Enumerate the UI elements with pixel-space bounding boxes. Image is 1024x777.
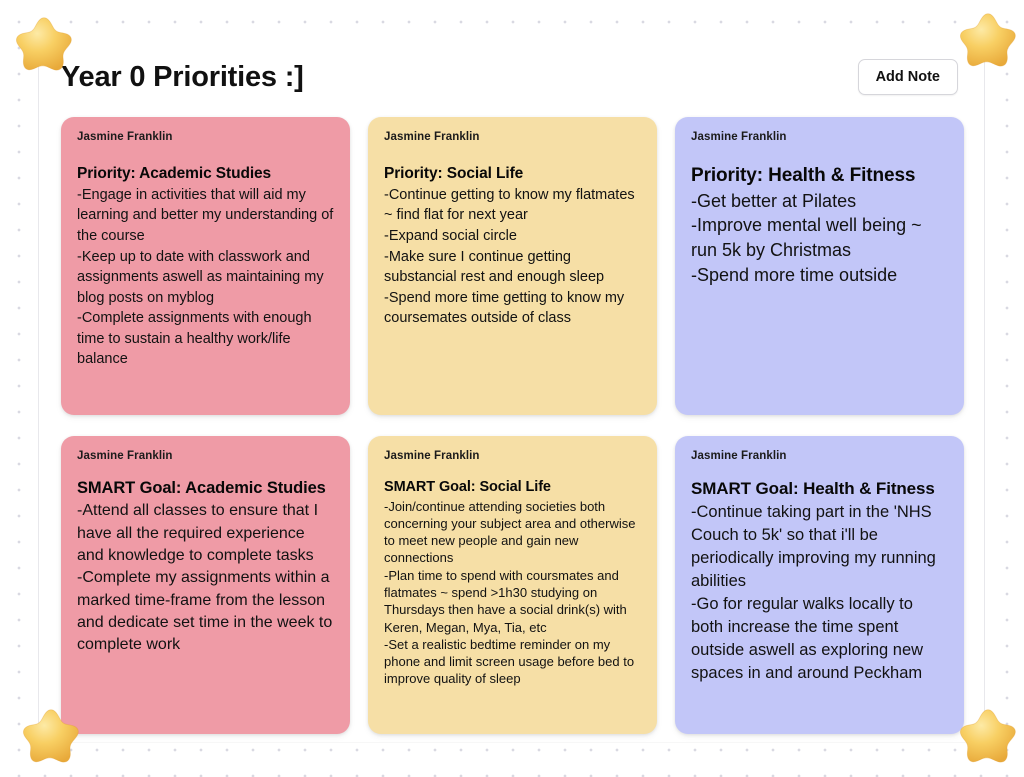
note-board: Year 0 Priorities :] Add Note Jasmine Fr… <box>38 36 985 742</box>
notes-grid: Jasmine FranklinPriority: Academic Studi… <box>61 117 964 734</box>
note-body: -Continue getting to know my flatmates ~… <box>384 185 641 329</box>
note-author: Jasmine Franklin <box>77 131 334 143</box>
note-heading: Priority: Academic Studies <box>77 164 334 184</box>
note-body: -Join/continue attending societies both … <box>384 498 641 688</box>
note-heading: SMART Goal: Health & Fitness <box>691 478 948 500</box>
note-author: Jasmine Franklin <box>77 450 334 462</box>
note-body: -Attend all classes to ensure that I hav… <box>77 500 334 657</box>
note-heading: SMART Goal: Social Life <box>384 478 641 497</box>
note-card[interactable]: Jasmine FranklinSMART Goal: Health & Fit… <box>675 436 964 734</box>
note-author: Jasmine Franklin <box>384 131 641 143</box>
note-card[interactable]: Jasmine FranklinPriority: Social Life-Co… <box>368 117 657 415</box>
note-body: -Engage in activities that will aid my l… <box>77 185 334 370</box>
note-card[interactable]: Jasmine FranklinPriority: Health & Fitne… <box>675 117 964 415</box>
note-body: -Get better at Pilates -Improve mental w… <box>691 189 948 288</box>
note-card[interactable]: Jasmine FranklinSMART Goal: Academic Stu… <box>61 436 350 734</box>
note-author: Jasmine Franklin <box>691 131 948 143</box>
note-body: -Continue taking part in the 'NHS Couch … <box>691 501 948 686</box>
note-card[interactable]: Jasmine FranklinPriority: Academic Studi… <box>61 117 350 415</box>
note-author: Jasmine Franklin <box>384 450 641 462</box>
note-card[interactable]: Jasmine FranklinSMART Goal: Social Life-… <box>368 436 657 734</box>
page-title: Year 0 Priorities :] <box>61 61 304 94</box>
note-author: Jasmine Franklin <box>691 450 948 462</box>
note-heading: SMART Goal: Academic Studies <box>77 478 334 499</box>
note-heading: Priority: Health & Fitness <box>691 164 948 188</box>
board-header: Year 0 Priorities :] Add Note <box>39 36 984 118</box>
note-heading: Priority: Social Life <box>384 164 641 184</box>
add-note-button[interactable]: Add Note <box>858 59 958 95</box>
